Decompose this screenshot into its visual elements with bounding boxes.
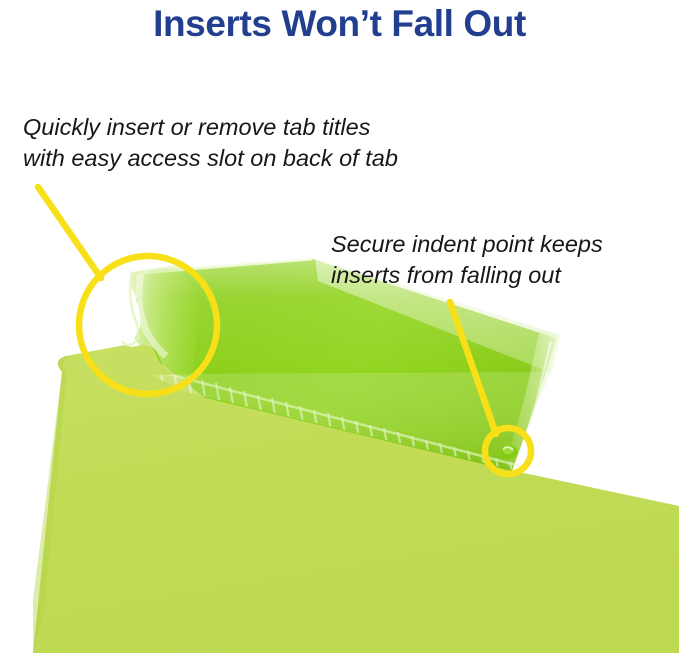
callout-label-insert-removal: Quickly insert or remove tab titles with… (23, 112, 503, 173)
page-title: Inserts Won’t Fall Out (0, 2, 679, 46)
image-canvas: Inserts Won’t Fall Out Quickly insert or… (0, 0, 679, 653)
secure-indent-point (501, 445, 518, 459)
callout-label-secure-indent: Secure indent point keeps inserts from f… (331, 229, 671, 290)
product-illustration (0, 0, 679, 653)
